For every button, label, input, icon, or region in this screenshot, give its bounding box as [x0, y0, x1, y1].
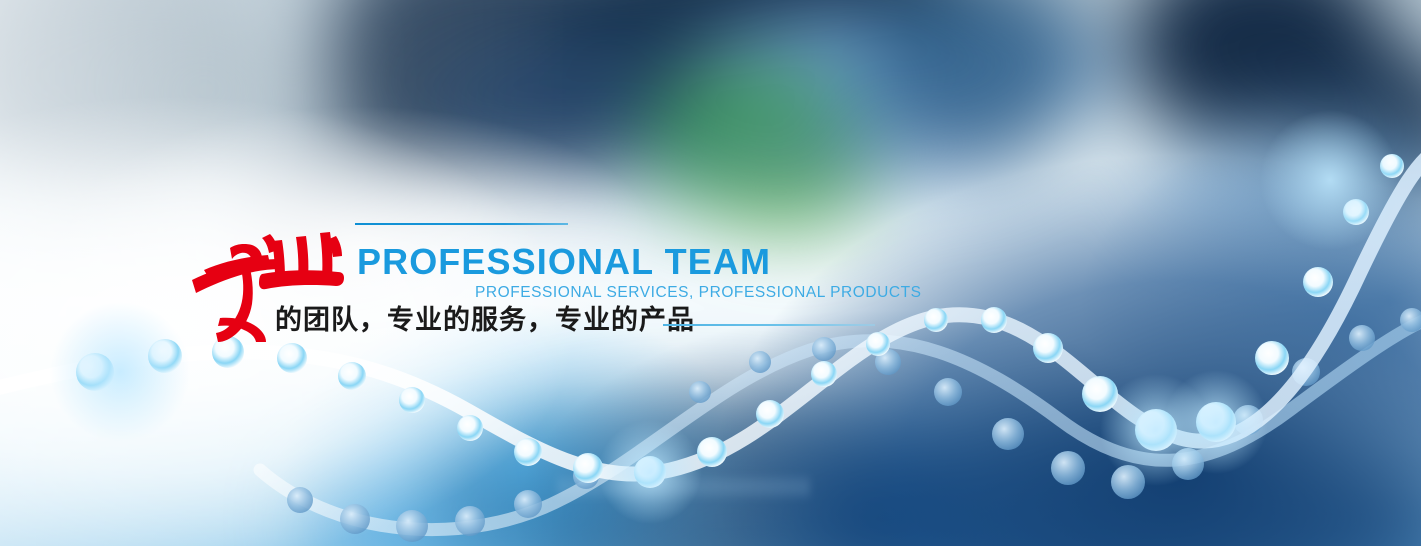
page-title: PROFESSIONAL TEAM [357, 244, 771, 280]
rule-above-headline [355, 223, 568, 225]
chinese-tagline: 的团队，专业的服务，专业的产品 [275, 306, 695, 336]
rule-right-of-tagline [663, 324, 875, 326]
hero-copy-block: PROFESSIONAL TEAM PROFESSIONAL SERVICES,… [0, 0, 1421, 546]
professional-team-hero-banner: PROFESSIONAL TEAM PROFESSIONAL SERVICES,… [0, 0, 1421, 546]
page-subtitle: PROFESSIONAL SERVICES, PROFESSIONAL PROD… [475, 285, 922, 301]
